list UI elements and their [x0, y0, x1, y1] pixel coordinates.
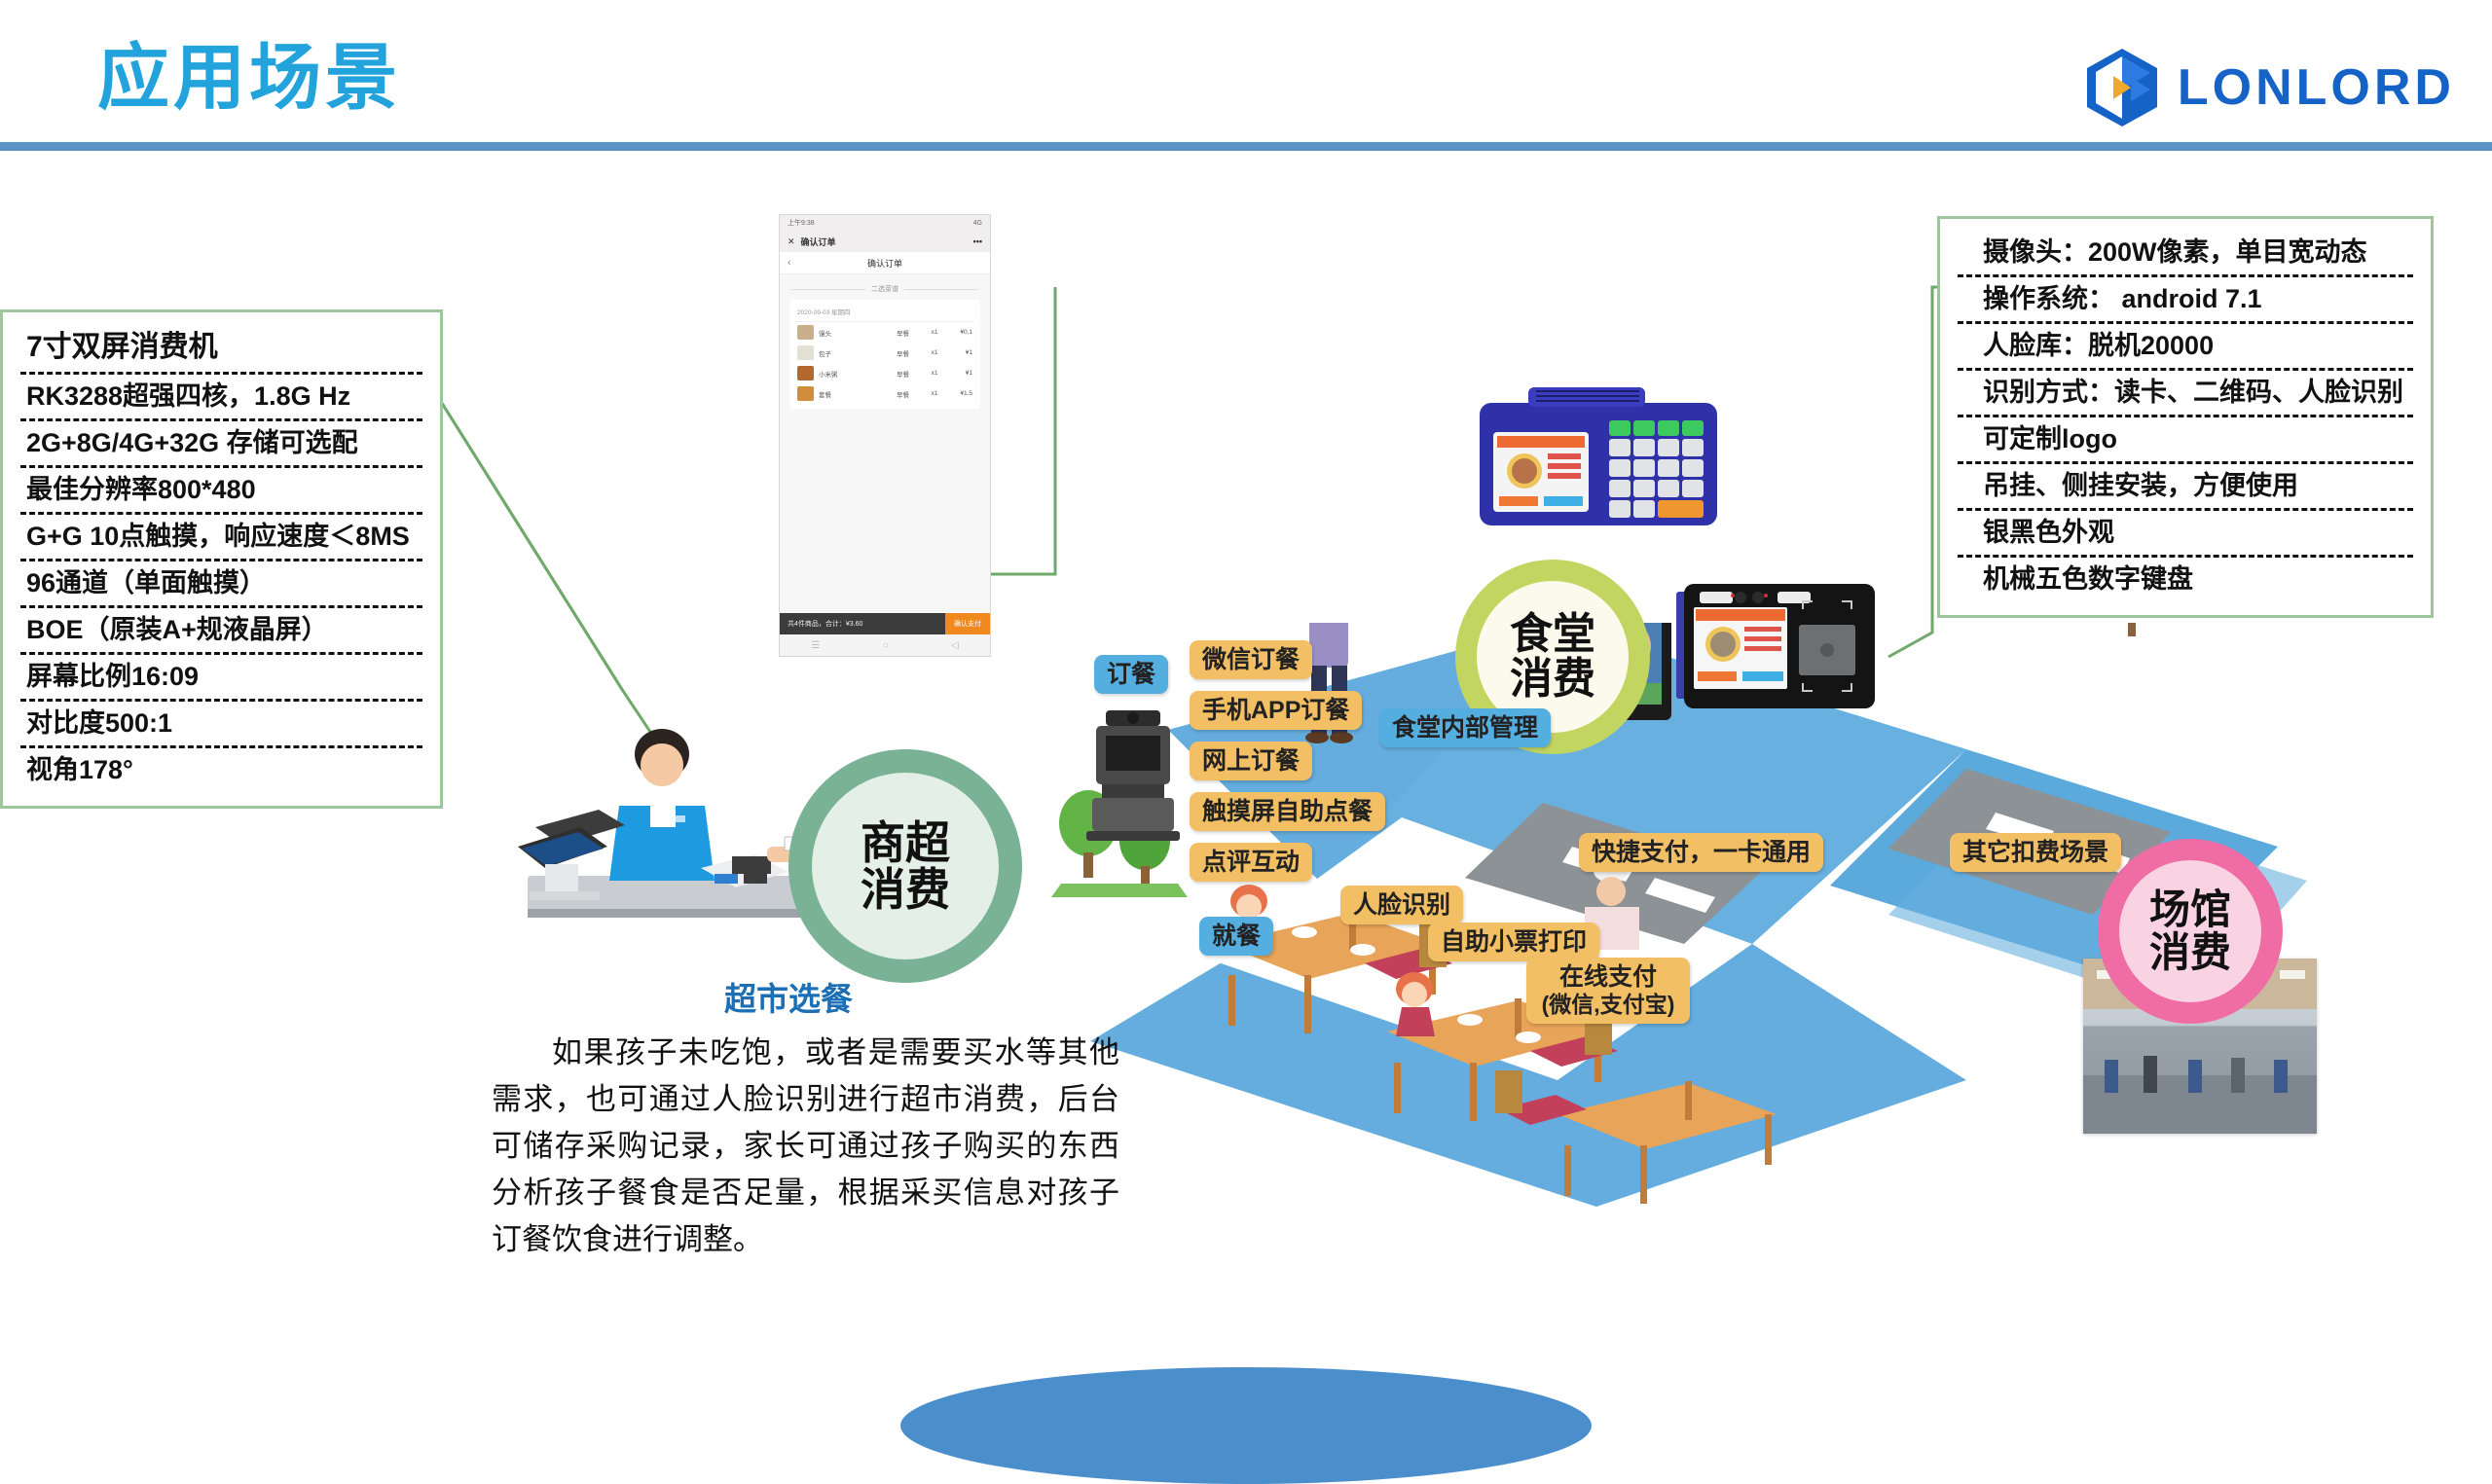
app-bar-title: 确认订单: [801, 235, 836, 248]
online-pay-line1: 在线支付: [1539, 962, 1677, 992]
more-icon[interactable]: •••: [973, 236, 982, 246]
item-price: ¥0.1: [947, 329, 972, 336]
tag-face-recognition[interactable]: 人脸识别: [1340, 886, 1463, 924]
tag-other-deduct[interactable]: 其它扣费场景: [1950, 833, 2121, 872]
phone-checkout-bar: 共4件商品，合计：¥3.60 确认支付: [780, 613, 990, 634]
checkout-summary: 共4件商品，合计：¥3.60: [780, 619, 945, 629]
tag-self-receipt[interactable]: 自助小票打印: [1428, 923, 1599, 961]
item-meal: 早餐: [897, 348, 922, 358]
order-item-row[interactable]: 小米粥 早餐 x1 ¥1: [795, 363, 974, 383]
spec-line: 人脸库：脱机20000: [1958, 324, 2413, 371]
spec-line: 最佳分辨率800*480: [20, 468, 422, 515]
circle-badge-supermarket[interactable]: 商超消费: [788, 749, 1022, 983]
page-header: 应用场景 LONLORD: [0, 0, 2492, 146]
item-qty: x1: [927, 370, 942, 377]
section-label: 二选菜谱: [871, 284, 898, 294]
tag-web-order[interactable]: 网上订餐: [1190, 742, 1312, 780]
spec-line: 可定制logo: [1958, 417, 2413, 464]
phone-app-bar: ✕ 确认订单 •••: [780, 231, 990, 252]
order-date: 2020-09-03 星期四: [795, 305, 974, 322]
circle-label-line2: 消费: [1510, 657, 1595, 702]
home-icon[interactable]: ○: [883, 640, 889, 651]
item-name: 馒头: [819, 328, 892, 338]
spec-line: 摄像头：200W像素，单目宽动态: [1958, 231, 2413, 277]
spec-line: 2G+8G/4G+32G 存储可选配: [20, 421, 422, 468]
spec-line: 视角178°: [20, 748, 422, 792]
spec-line: 7寸双屏消费机: [20, 324, 422, 375]
tag-order-meal[interactable]: 订餐: [1094, 655, 1168, 694]
circle-badge-venue[interactable]: 场馆 消费: [2098, 839, 2283, 1024]
item-price: ¥1: [947, 370, 972, 377]
supermarket-counter-scene: [506, 701, 827, 954]
spec-line: 对比度500:1: [20, 702, 422, 748]
caption-body: 如果孩子未吃饱，或者是需要买水等其他需求，也可通过人脸识别进行超市消费，后台可储…: [492, 1030, 1119, 1263]
tag-online-pay[interactable]: 在线支付 (微信,支付宝): [1526, 958, 1690, 1024]
circle-label-line2: 消费: [2149, 931, 2231, 974]
phone-section-header: 二选菜谱: [780, 274, 990, 298]
item-thumbnail: [797, 325, 814, 340]
spec-line: 识别方式：读卡、二维码、人脸识别: [1958, 371, 2413, 417]
blue-pos-terminal-device: [1468, 378, 1729, 543]
page-title: 应用场景: [97, 19, 401, 124]
order-item-row[interactable]: 包子 早餐 x1 ¥1: [795, 343, 974, 363]
spec-line: RK3288超强四核，1.8G Hz: [20, 375, 422, 421]
item-price: ¥1.5: [947, 390, 972, 397]
spec-line: G+G 10点触摸，响应速度＜8MS: [20, 515, 422, 561]
spec-box-face-terminal: 摄像头：200W像素，单目宽动态 操作系统： android 7.1 人脸库：脱…: [1937, 216, 2434, 618]
logo-wordmark: LONLORD: [2178, 58, 2455, 117]
close-icon[interactable]: ✕: [788, 236, 795, 247]
nav-title: 确认订单: [867, 257, 902, 270]
spec-line: 机械五色数字键盘: [1958, 558, 2413, 601]
item-name: 套餐: [819, 389, 892, 399]
item-thumbnail: [797, 366, 814, 380]
status-signal: 4G: [973, 220, 982, 227]
tag-quick-pay[interactable]: 快捷支付，一卡通用: [1579, 833, 1823, 872]
face-recognition-terminal-device: [1672, 582, 1887, 718]
spec-line: 操作系统： android 7.1: [1958, 277, 2413, 324]
menu-icon[interactable]: ☰: [811, 640, 820, 651]
tag-dining[interactable]: 就餐: [1199, 917, 1273, 956]
rule-right: [904, 289, 978, 290]
bottom-decoration-ellipse: [900, 1367, 1592, 1484]
spec-box-display-terminal: 7寸双屏消费机 RK3288超强四核，1.8G Hz 2G+8G/4G+32G …: [0, 309, 443, 809]
rule-left: [791, 289, 865, 290]
tag-wechat-order[interactable]: 微信订餐: [1190, 640, 1312, 679]
item-meal: 早餐: [897, 369, 922, 379]
spec-line: 屏幕比例16:09: [20, 655, 422, 702]
brand-logo: LONLORD: [2084, 47, 2455, 128]
order-item-row[interactable]: 馒头 早餐 x1 ¥0.1: [795, 322, 974, 343]
tag-app-order[interactable]: 手机APP订餐: [1190, 691, 1362, 730]
spec-line: 吊挂、侧挂安装，方便使用: [1958, 464, 2413, 511]
back-icon[interactable]: ‹: [788, 257, 791, 269]
tag-touch-self-order[interactable]: 触摸屏自助点餐: [1190, 792, 1385, 831]
item-thumbnail: [797, 386, 814, 401]
circle-label-line1: 食堂: [1510, 612, 1595, 657]
phone-order-card: 2020-09-03 星期四 馒头 早餐 x1 ¥0.1 包子 早餐 x1 ¥1…: [789, 300, 980, 409]
spec-line: BOE（原装A+规液晶屏）: [20, 608, 422, 655]
item-meal: 早餐: [897, 328, 922, 338]
spec-line: 银黑色外观: [1958, 511, 2413, 558]
order-item-row[interactable]: 套餐 早餐 x1 ¥1.5: [795, 383, 974, 404]
tag-canteen-mgmt[interactable]: 食堂内部管理: [1379, 708, 1551, 747]
caption-title: 超市选餐: [672, 973, 905, 1020]
item-name: 包子: [819, 348, 892, 358]
tag-review-interact[interactable]: 点评互动: [1190, 843, 1312, 882]
phone-system-nav: ☰ ○ ◁: [780, 634, 990, 656]
phone-status-bar: 上午9:38 4G: [780, 215, 990, 231]
item-name: 小米粥: [819, 369, 892, 379]
item-meal: 早餐: [897, 389, 922, 399]
spec-line: 96通道（单面触摸）: [20, 561, 422, 608]
online-pay-line2: (微信,支付宝): [1539, 992, 1677, 1019]
item-qty: x1: [927, 329, 942, 336]
circle-label-line1: 场馆: [2149, 888, 2231, 931]
phone-nav-bar: ‹ 确认订单: [780, 252, 990, 274]
item-qty: x1: [927, 349, 942, 356]
circle-label: 商超消费: [847, 819, 964, 914]
item-price: ¥1: [947, 349, 972, 356]
phone-order-mockup: 上午9:38 4G ✕ 确认订单 ••• ‹ 确认订单 二选菜谱 2020-09…: [779, 214, 991, 657]
back-icon[interactable]: ◁: [951, 640, 959, 651]
self-order-kiosk: [1081, 710, 1188, 847]
confirm-pay-button[interactable]: 确认支付: [945, 613, 990, 634]
item-qty: x1: [927, 390, 942, 397]
lonlord-hexagon-icon: [2084, 47, 2160, 128]
header-divider: [0, 142, 2492, 151]
status-time: 上午9:38: [788, 218, 815, 228]
item-thumbnail: [797, 345, 814, 360]
